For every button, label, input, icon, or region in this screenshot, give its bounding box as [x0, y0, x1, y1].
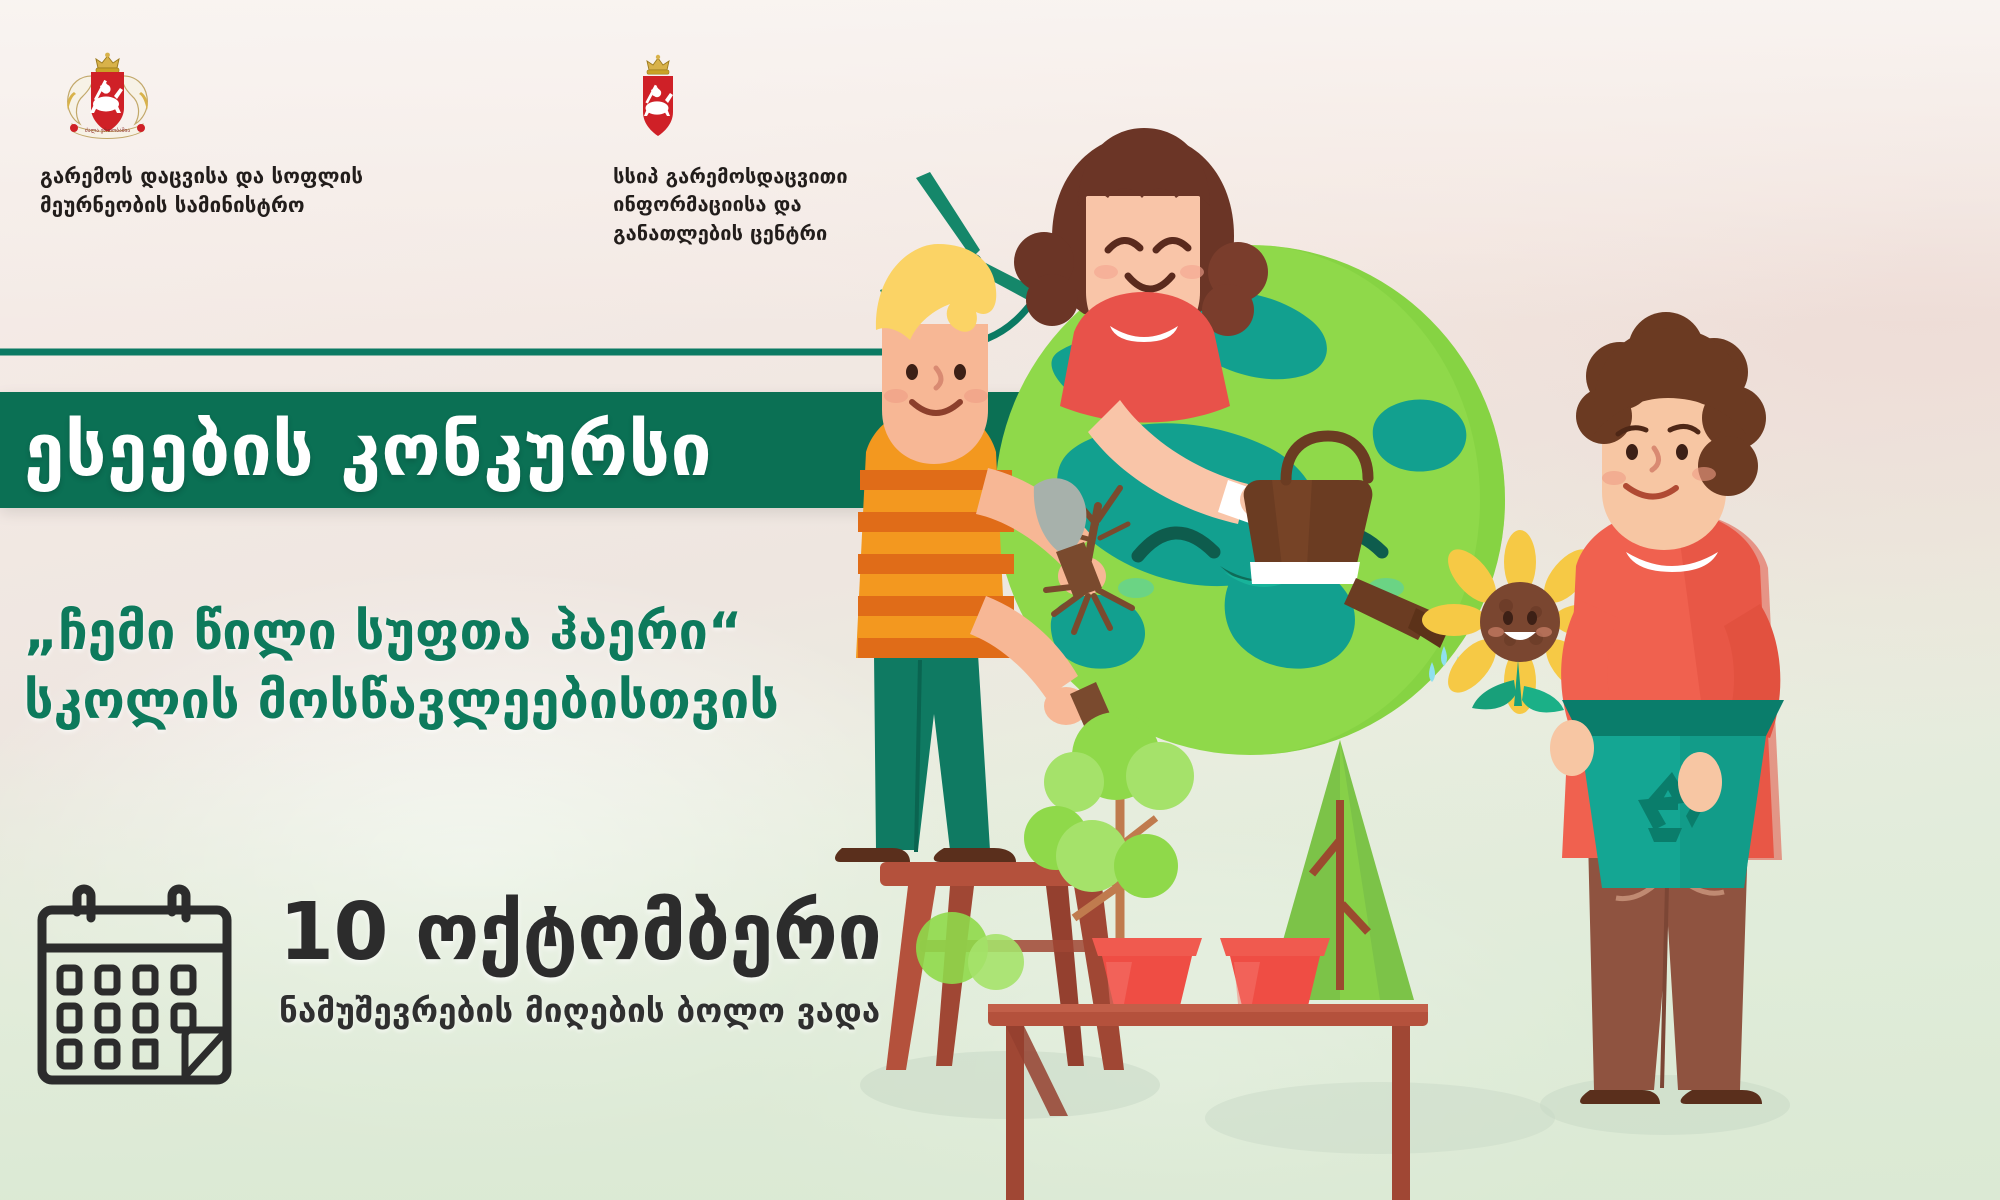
logo-ministry: ძალა ერთობაშია გარემოს დაცვისა და სოფლის… [40, 52, 363, 220]
boy-holding-recycling-bin [1550, 312, 1784, 1104]
georgia-greater-coat-of-arms-icon: ძალა ერთობაშია [50, 52, 165, 144]
deadline-note: ნამუშევრების მიღების ბოლო ვადა [279, 991, 881, 1030]
georgia-lesser-coat-of-arms-icon [627, 52, 689, 144]
deadline-block: 10 ოქტომბერი ნამუშევრების მიღების ბოლო ვ… [32, 880, 881, 1095]
logo-group: ძალა ერთობაშია გარემოს დაცვისა და სოფლის… [40, 52, 848, 247]
deadline-date: 10 ოქტომბერი [279, 892, 881, 973]
svg-text:ძალა ერთობაშია: ძალა ერთობაშია [85, 127, 130, 134]
bush-small [916, 912, 1024, 990]
calendar-icon [32, 880, 237, 1095]
illustration-children-caring-for-earth [820, 0, 2000, 1200]
logo-information-center-label: სსიპ გარემოსდაცვითი ინფორმაციისა და განა… [613, 162, 848, 247]
shadow-boy-recycling [1540, 1075, 1790, 1135]
page-title: ესეების კონკურსი [0, 414, 712, 487]
shadow-table [1205, 1082, 1555, 1154]
logo-information-center: სსიპ გარემოსდაცვითი ინფორმაციისა და განა… [613, 52, 848, 247]
logo-ministry-label: გარემოს დაცვისა და სოფლის მეურნეობის სამ… [40, 162, 363, 220]
deadline-text: 10 ოქტომბერი ნამუშევრების მიღების ბოლო ვ… [279, 880, 881, 1030]
